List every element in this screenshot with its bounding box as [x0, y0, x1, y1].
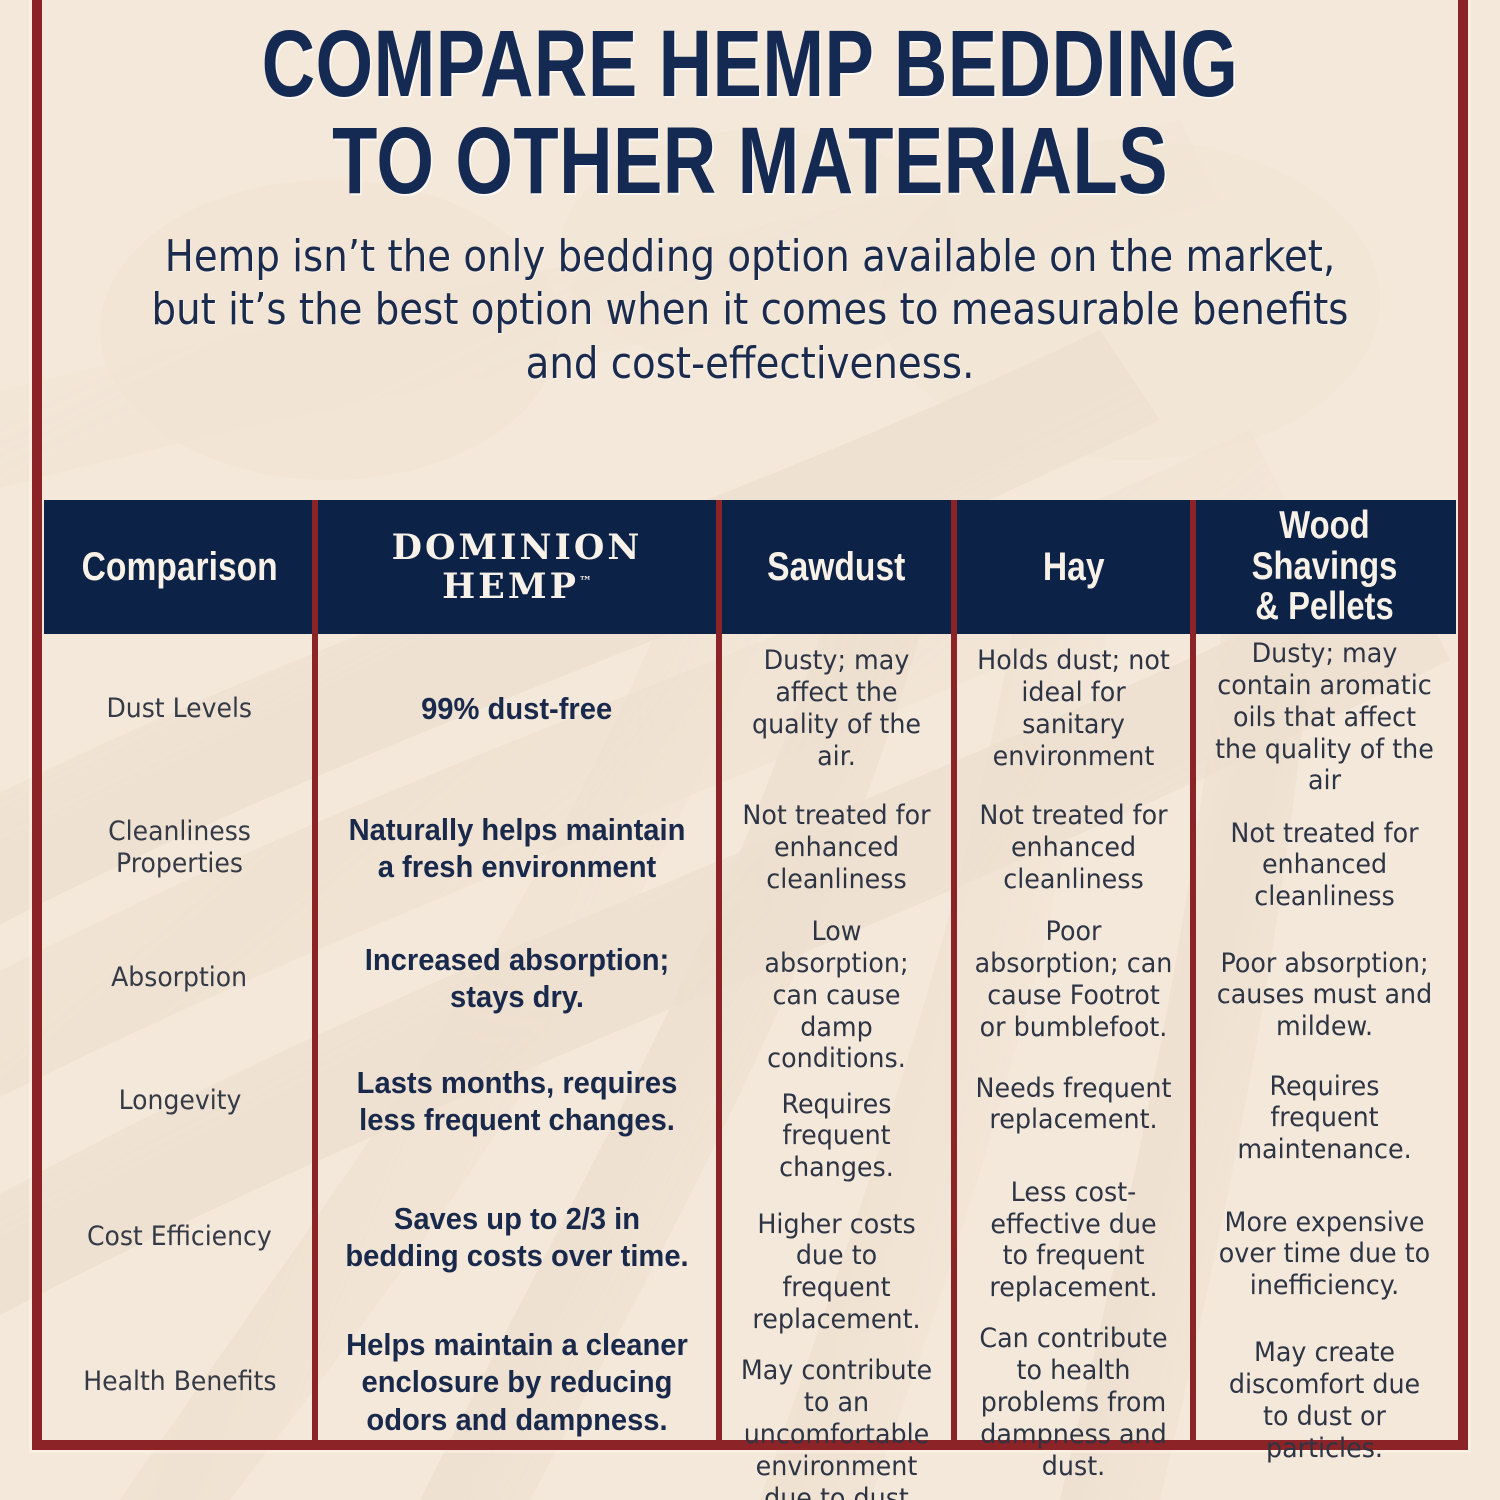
cell-sawdust-cleanliness: Not treated for enhanced cleanliness — [739, 800, 934, 896]
table-cell: Poor absorption; causes must and mildew. — [1193, 929, 1456, 1061]
table-cell: Higher costs due to frequent replacement… — [719, 1193, 954, 1351]
row-label-cell: Health Benefits — [44, 1316, 315, 1448]
table-cell: Helps maintain a cleaner enclosure by re… — [315, 1316, 719, 1448]
page-title-line-2: TO OTHER MATERIALS — [201, 115, 1299, 208]
trademark-icon: ™ — [579, 574, 592, 589]
table-cell: Increased absorption; stays dry. — [315, 912, 719, 1044]
header-block: COMPARE HEMP BEDDING TO OTHER MATERIALS … — [46, 18, 1454, 390]
column-header-hay: Hay — [954, 500, 1193, 634]
infographic-page: COMPARE HEMP BEDDING TO OTHER MATERIALS … — [0, 0, 1500, 1500]
cell-hay-longevity: Needs frequent replacement. — [974, 1073, 1172, 1137]
table-cell: Requires frequent changes. — [719, 1079, 954, 1193]
table-cell: Can contribute to health problems from d… — [954, 1319, 1193, 1486]
comparison-table: Comparison DOMINION HEMP™ Sawdust — [44, 500, 1456, 1448]
dominion-hemp-logo: DOMINION HEMP™ — [392, 528, 643, 606]
brand-line-2: HEMP™ — [392, 567, 643, 606]
cell-hay-health-benefits: Can contribute to health problems from d… — [974, 1323, 1172, 1482]
table-cell: Low absorption; can cause damp condition… — [719, 912, 954, 1079]
column-body-comparison: Dust Levels Cleanliness Properties Absor… — [44, 634, 315, 1448]
table-cell: Less cost-effective due to frequent repl… — [954, 1161, 1193, 1319]
cell-dominion-longevity: Lasts months, requires less frequent cha… — [340, 1064, 693, 1138]
brand-line-2-text: HEMP — [442, 566, 579, 607]
table-cell: Not treated for enhanced cleanliness — [954, 784, 1193, 912]
column-body-dominion-hemp: 99% dust-free Naturally helps maintain a… — [315, 634, 719, 1448]
cell-dominion-cost-efficiency: Saves up to 2/3 in bedding costs over ti… — [340, 1200, 693, 1274]
row-label-health-benefits: Health Benefits — [83, 1366, 276, 1398]
table-cell: Holds dust; not ideal for sanitary envir… — [954, 634, 1193, 784]
cell-wood-health-benefits: May create discomfort due to dust or par… — [1214, 1337, 1435, 1464]
table-cell: Naturally helps maintain a fresh environ… — [315, 784, 719, 912]
row-label-absorption: Absorption — [112, 962, 248, 994]
column-header-comparison: Comparison — [44, 500, 315, 634]
row-label-cleanliness-properties: Cleanliness Properties — [67, 816, 293, 880]
header-label-comparison: Comparison — [81, 546, 277, 588]
cell-dominion-cleanliness: Naturally helps maintain a fresh environ… — [340, 811, 693, 885]
header-label-wood-line-2: & Pellets — [1255, 585, 1393, 628]
cell-sawdust-cost-efficiency: Higher costs due to frequent replacement… — [739, 1209, 934, 1336]
table-cell: May contribute to an uncomfortable envir… — [719, 1351, 954, 1500]
brand-line-1: DOMINION — [392, 528, 643, 567]
cell-wood-absorption: Poor absorption; causes must and mildew. — [1214, 948, 1435, 1044]
cell-wood-dust-levels: Dusty; may contain aromatic oils that af… — [1214, 638, 1435, 797]
cell-sawdust-absorption: Low absorption; can cause damp condition… — [739, 916, 934, 1075]
cell-hay-cost-efficiency: Less cost-effective due to frequent repl… — [974, 1177, 1172, 1304]
cell-hay-absorption: Poor absorption; can cause Footrot or bu… — [974, 916, 1172, 1043]
table-cell: More expensive over time due to ineffici… — [1193, 1175, 1456, 1333]
row-label-cost-efficiency: Cost Efficiency — [87, 1221, 272, 1253]
header-label-hay: Hay — [1043, 546, 1105, 588]
column-header-sawdust: Sawdust — [719, 500, 954, 634]
column-header-dominion-hemp: DOMINION HEMP™ — [315, 500, 719, 634]
cell-dominion-dust-levels: 99% dust-free — [421, 690, 612, 727]
table-header-row: Comparison DOMINION HEMP™ Sawdust — [44, 500, 1456, 634]
table-cell: Dusty; may contain aromatic oils that af… — [1193, 634, 1456, 801]
table-cell: Requires frequent maintenance. — [1193, 1061, 1456, 1175]
column-body-wood-shavings: Dusty; may contain aromatic oils that af… — [1193, 634, 1456, 1448]
row-label-cell: Cost Efficiency — [44, 1158, 315, 1316]
table-cell: Saves up to 2/3 in bedding costs over ti… — [315, 1158, 719, 1316]
cell-dominion-health-benefits: Helps maintain a cleaner enclosure by re… — [340, 1326, 693, 1438]
cell-wood-longevity: Requires frequent maintenance. — [1214, 1071, 1435, 1167]
row-label-cell: Cleanliness Properties — [44, 784, 315, 912]
table-cell: Lasts months, requires less frequent cha… — [315, 1044, 719, 1158]
row-label-dust-levels: Dust Levels — [107, 693, 253, 725]
column-body-sawdust: Dusty; may affect the quality of the air… — [719, 634, 954, 1448]
row-label-cell: Longevity — [44, 1044, 315, 1158]
row-label-cell: Absorption — [44, 912, 315, 1044]
header-label-wood-line-1: Wood Shavings — [1252, 504, 1398, 588]
cell-hay-dust-levels: Holds dust; not ideal for sanitary envir… — [974, 645, 1172, 772]
table-cell: Needs frequent replacement. — [954, 1047, 1193, 1161]
table-cell: May create discomfort due to dust or par… — [1193, 1333, 1456, 1468]
column-body-hay: Holds dust; not ideal for sanitary envir… — [954, 634, 1193, 1448]
page-subtitle: Hemp isn’t the only bedding option avail… — [130, 230, 1369, 390]
column-header-wood-shavings: Wood Shavings & Pellets — [1193, 500, 1456, 634]
header-label-wood-shavings: Wood Shavings & Pellets — [1222, 506, 1426, 629]
table-cell: Not treated for enhanced cleanliness — [1193, 801, 1456, 929]
row-label-cell: Dust Levels — [44, 634, 315, 784]
cell-sawdust-health-benefits: May contribute to an uncomfortable envir… — [739, 1355, 934, 1500]
cell-wood-cost-efficiency: More expensive over time due to ineffici… — [1214, 1207, 1435, 1303]
cell-wood-cleanliness: Not treated for enhanced cleanliness — [1214, 818, 1435, 914]
cell-hay-cleanliness: Not treated for enhanced cleanliness — [974, 800, 1172, 896]
table-body: Dust Levels Cleanliness Properties Absor… — [44, 634, 1456, 1448]
row-label-longevity: Longevity — [118, 1085, 241, 1117]
table-cell: Not treated for enhanced cleanliness — [719, 784, 954, 912]
table-cell: 99% dust-free — [315, 634, 719, 784]
table-cell: Dusty; may affect the quality of the air… — [719, 634, 954, 784]
cell-sawdust-longevity: Requires frequent changes. — [739, 1089, 934, 1185]
table-cell: Poor absorption; can cause Footrot or bu… — [954, 912, 1193, 1047]
header-label-sawdust: Sawdust — [767, 546, 905, 588]
cell-dominion-absorption: Increased absorption; stays dry. — [340, 941, 693, 1015]
page-title-line-1: COMPARE HEMP BEDDING — [201, 18, 1299, 111]
cell-sawdust-dust-levels: Dusty; may affect the quality of the air… — [739, 645, 934, 772]
